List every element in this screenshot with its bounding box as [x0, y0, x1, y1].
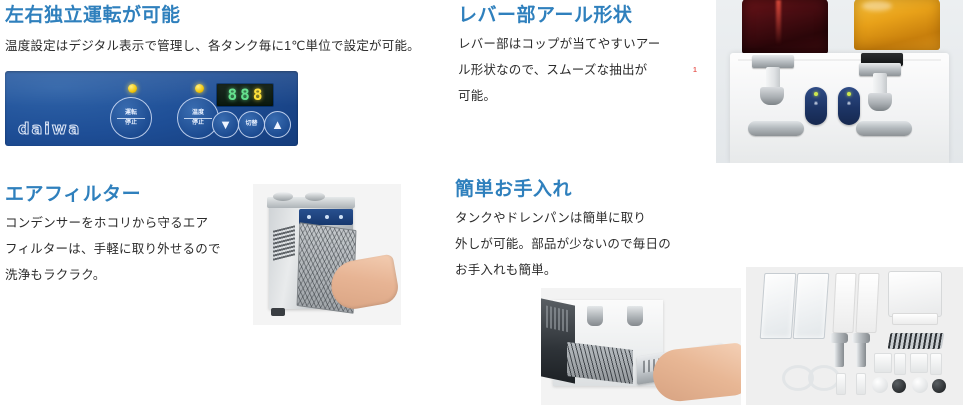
white-panel-part — [832, 273, 856, 333]
status-led-icon — [814, 92, 818, 96]
control-panel-face: daiwa 運転 停止 温度 停止 8 8 8 ▼ 切替 ▲ — [5, 71, 298, 146]
grill-part — [888, 333, 945, 349]
chevron-up-icon: ▲ — [271, 118, 284, 131]
left-faucet — [587, 306, 603, 326]
left-drip-tray — [748, 121, 804, 136]
display-digit-3: 8 — [253, 87, 263, 103]
chevron-down-icon: ▼ — [219, 118, 232, 131]
temperature-button-bottom-label: 停止 — [192, 120, 204, 127]
feature-air-filter-heading: エアフィルター — [5, 185, 141, 204]
white-knob-part — [912, 377, 928, 393]
small-white-part — [930, 353, 942, 375]
dispenser-photo: ❋ ❋ — [716, 0, 963, 163]
body-line: お手入れも簡単。 — [455, 257, 705, 283]
dispenser-body: ❋ ❋ — [730, 53, 949, 163]
temperature-led-icon — [195, 84, 204, 93]
temp-down-button[interactable]: ▼ — [212, 111, 239, 138]
panel-button-icon — [307, 215, 311, 219]
temp-up-button[interactable]: ▲ — [264, 111, 291, 138]
body-line: 温度設定はデジタル表示で管理し、各タンク毎に1℃単位で設定が可能。 — [5, 33, 455, 59]
left-dispense-button[interactable]: ❋ — [805, 87, 827, 125]
mode-switch-label: 切替 — [245, 121, 257, 128]
right-drip-tray — [856, 121, 912, 136]
right-faucet — [627, 306, 643, 326]
temperature-button-top-label: 温度 — [192, 110, 204, 117]
button-glyph: ❋ — [814, 101, 818, 107]
body-line: 外しが可能。部品が少ないので毎日の — [455, 231, 705, 257]
heading-text: 左右独立運転が可能 — [5, 6, 181, 25]
display-digit-1: 8 — [228, 87, 238, 103]
black-knob-part — [892, 379, 906, 393]
heading-text: エアフィルター — [5, 185, 141, 204]
side-vent — [273, 225, 295, 260]
button-divider — [184, 118, 213, 119]
heading-text: 簡単お手入れ — [455, 180, 572, 199]
daiwa-logo: daiwa — [18, 121, 81, 137]
temperature-display: 8 8 8 — [216, 83, 274, 107]
body-line: コンデンサーをホコリから守るエア — [5, 210, 250, 236]
body-line: 洗浄もラクラク。 — [5, 262, 250, 288]
body-line: フィルターは、手軽に取り外せるので — [5, 236, 250, 262]
feature-air-filter-body: コンデンサーをホコリから守るエア フィルターは、手軽に取り外せるので 洗浄もラク… — [5, 210, 250, 288]
right-lever[interactable] — [868, 93, 892, 111]
white-knob-part — [872, 377, 888, 393]
operation-led-icon — [128, 84, 137, 93]
small-white-part — [894, 353, 906, 375]
black-knob-part — [932, 379, 946, 393]
operation-button-top-label: 運転 — [125, 110, 137, 117]
mode-switch-button[interactable]: 切替 — [238, 111, 265, 138]
tank-opening — [273, 192, 293, 201]
feature-independent-operation-body: 温度設定はデジタル表示で管理し、各タンク毎に1℃単位で設定が可能。 — [5, 33, 455, 59]
feature-easy-care-heading: 簡単お手入れ — [455, 180, 572, 199]
button-glyph: ❋ — [847, 101, 851, 107]
small-white-part — [856, 373, 866, 395]
body-line: 可能。 — [458, 83, 708, 109]
left-tank-juice — [742, 0, 828, 54]
air-filter-photo — [253, 184, 401, 325]
operation-button-bottom-label: 停止 — [125, 120, 137, 127]
heading-text: レバー部アール形状 — [458, 6, 632, 25]
parts-photo — [746, 267, 963, 405]
chrome-cap-part — [852, 333, 870, 343]
body-line: タンクやドレンパンは簡単に取り — [455, 205, 705, 231]
left-lever[interactable] — [760, 87, 784, 105]
small-white-part — [910, 353, 928, 373]
small-white-part — [874, 353, 892, 373]
body-line: ル形状なので、スムーズな抽出が — [458, 57, 708, 83]
panel-button-icon — [325, 215, 329, 219]
footnote-marker: 1 — [693, 58, 697, 84]
clear-tank-part — [793, 273, 830, 339]
panel-button-icon — [339, 215, 343, 219]
drain-pan-photo — [541, 288, 741, 405]
status-led-icon — [847, 92, 851, 96]
machine-foot — [271, 308, 285, 316]
machine-top-plate — [267, 197, 355, 208]
control-panel-photo: daiwa 運転 停止 温度 停止 8 8 8 ▼ 切替 ▲ — [5, 71, 298, 146]
feature-independent-operation-heading: 左右独立運転が可能 — [5, 6, 181, 25]
white-cover-part — [888, 271, 942, 317]
button-divider — [117, 118, 146, 119]
small-white-part — [836, 373, 846, 395]
right-tank-juice — [854, 0, 940, 50]
white-bracket-part — [892, 313, 938, 325]
chrome-cap-part — [830, 333, 848, 343]
operation-button[interactable]: 運転 停止 — [110, 97, 152, 139]
right-dispense-button[interactable]: ❋ — [838, 87, 860, 125]
white-panel-part — [855, 273, 879, 333]
body-line: レバー部はコップが当てやすいアー — [458, 31, 708, 57]
feature-lever-shape-body: レバー部はコップが当てやすいアー ル形状なので、スムーズな抽出が 可能。 1 — [458, 31, 708, 109]
feature-easy-care-body: タンクやドレンパンは簡単に取り 外しが可能。部品が少ないので毎日の お手入れも簡… — [455, 205, 705, 283]
display-digit-2: 8 — [240, 87, 250, 103]
feature-lever-shape-heading: レバー部アール形状 — [458, 6, 632, 25]
clear-tank-part — [760, 273, 797, 339]
tank-opening — [305, 192, 325, 201]
